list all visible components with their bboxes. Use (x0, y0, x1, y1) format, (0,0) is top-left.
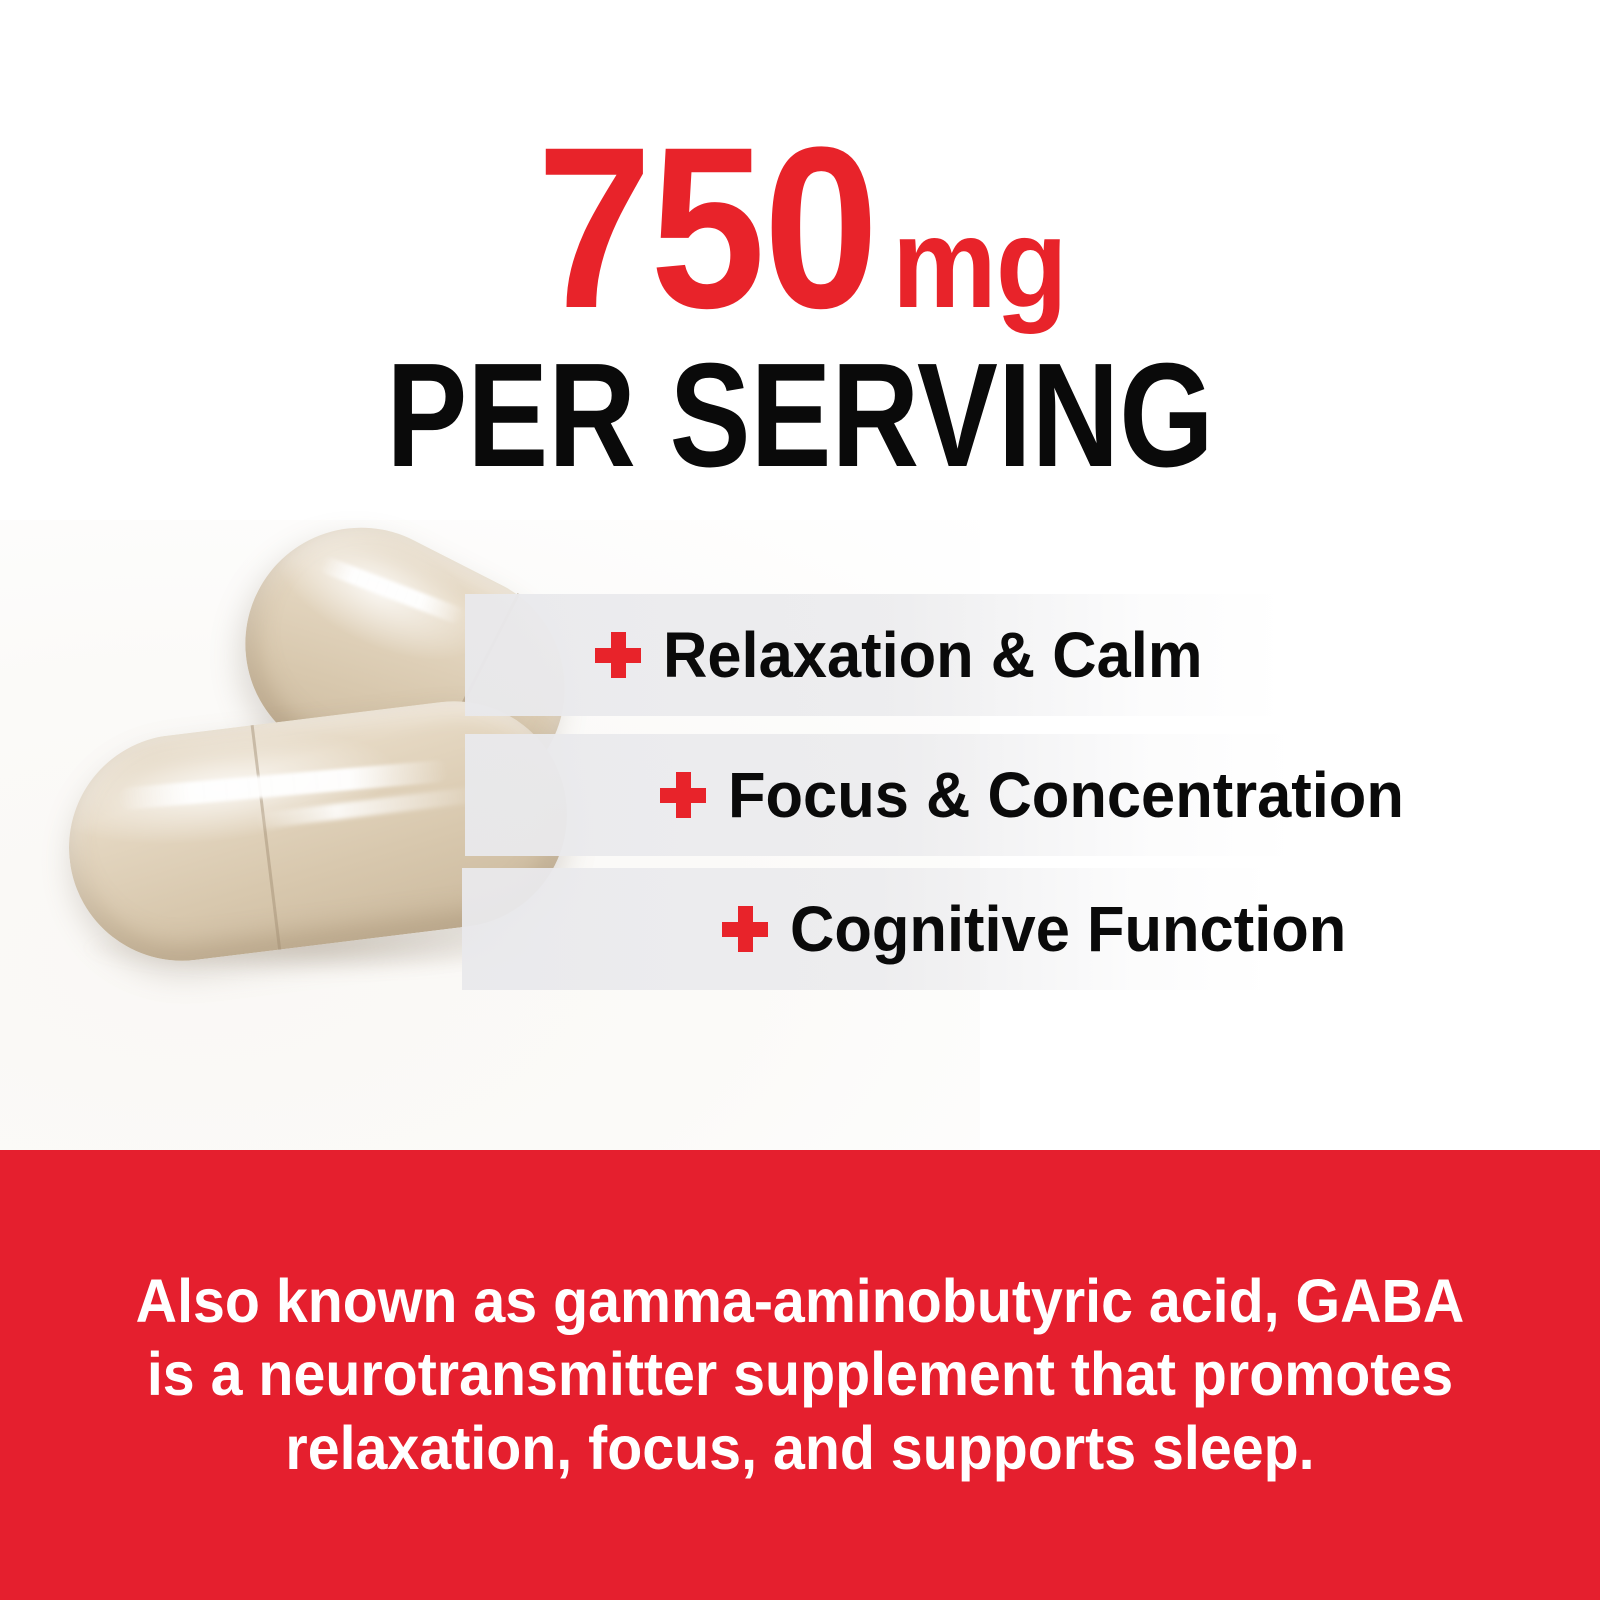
benefit-item-relaxation: Relaxation & Calm (595, 594, 1225, 716)
hero-panel: 750mg PER SERVING Relaxation & Calm (0, 0, 1600, 1150)
benefit-label: Cognitive Function (790, 897, 1346, 961)
description-line: is a neurotransmitter supplement that pr… (133, 1338, 1468, 1411)
plus-icon (722, 906, 768, 952)
description-line: relaxation, focus, and supports sleep. (133, 1412, 1468, 1485)
benefit-item-cognitive: Cognitive Function (722, 868, 1370, 990)
product-infographic: 750mg PER SERVING Relaxation & Calm (0, 0, 1600, 1600)
benefit-list: Relaxation & Calm Focus & Concentration … (0, 0, 1600, 1150)
benefit-label: Focus & Concentration (728, 763, 1404, 827)
plus-icon (660, 772, 706, 818)
benefit-label: Relaxation & Calm (663, 623, 1202, 687)
description-text: Also known as gamma-aminobutyric acid, G… (133, 1265, 1468, 1485)
benefit-item-focus: Focus & Concentration (660, 734, 1432, 856)
description-banner: Also known as gamma-aminobutyric acid, G… (0, 1150, 1600, 1600)
description-line: Also known as gamma-aminobutyric acid, G… (133, 1265, 1468, 1338)
plus-icon (595, 632, 641, 678)
